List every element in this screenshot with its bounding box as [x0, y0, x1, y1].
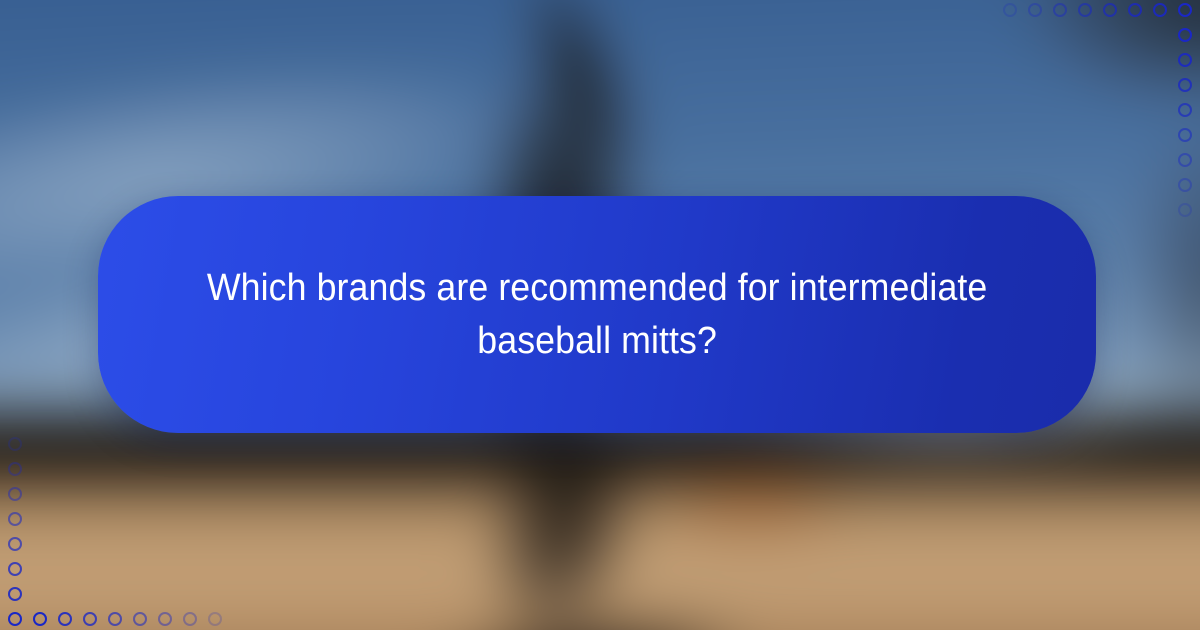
question-card-canvas: Which brands are recommended for interme…	[0, 0, 1200, 630]
decoration-dot	[1128, 3, 1142, 17]
decoration-dot	[1178, 3, 1192, 17]
decoration-dot	[208, 612, 222, 626]
decoration-dot	[33, 612, 47, 626]
decoration-dot	[1028, 3, 1042, 17]
background-right-pillar	[1104, 92, 1200, 458]
decoration-dot	[1178, 28, 1192, 42]
decoration-dot	[1153, 3, 1167, 17]
decoration-dot	[1003, 3, 1017, 17]
decoration-dot	[8, 612, 22, 626]
decoration-dot	[8, 437, 22, 451]
decoration-dot	[1178, 78, 1192, 92]
decoration-dot	[8, 587, 22, 601]
decoration-dot	[133, 612, 147, 626]
decoration-dot	[8, 562, 22, 576]
decoration-dot	[108, 612, 122, 626]
decoration-dot	[1178, 53, 1192, 67]
decoration-dot	[8, 512, 22, 526]
decoration-dot	[1178, 103, 1192, 117]
decoration-dot	[83, 612, 97, 626]
decoration-dot	[158, 612, 172, 626]
decoration-dot	[1178, 128, 1192, 142]
decoration-dot	[1103, 3, 1117, 17]
decoration-dot	[1178, 178, 1192, 192]
decoration-dot	[1178, 203, 1192, 217]
decoration-dot	[183, 612, 197, 626]
decoration-dot	[8, 462, 22, 476]
decoration-dot	[8, 487, 22, 501]
question-text: Which brands are recommended for interme…	[194, 262, 1001, 368]
decoration-dot	[1178, 153, 1192, 167]
decoration-dot	[58, 612, 72, 626]
decoration-dot	[1078, 3, 1092, 17]
decoration-dot	[8, 537, 22, 551]
decoration-dot	[1053, 3, 1067, 17]
question-card: Which brands are recommended for interme…	[98, 196, 1096, 433]
